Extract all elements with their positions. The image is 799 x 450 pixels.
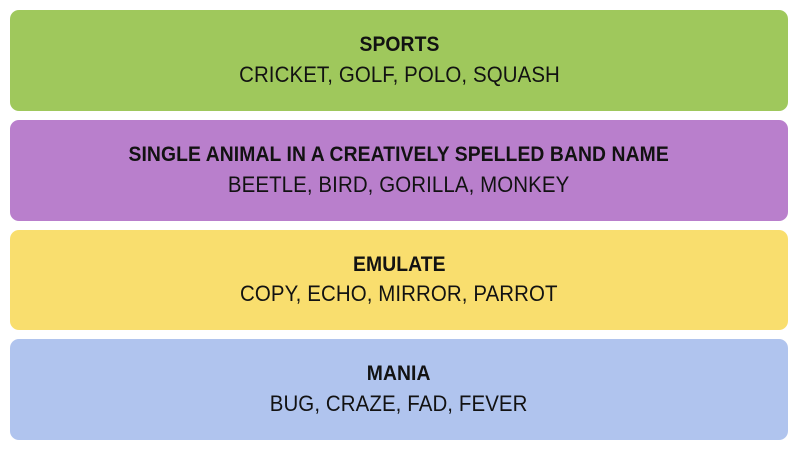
connections-answer-board: SPORTS CRICKET, GOLF, POLO, SQUASH SINGL…	[0, 0, 799, 450]
category-title: SINGLE ANIMAL IN A CREATIVELY SPELLED BA…	[129, 143, 669, 168]
category-title: SPORTS	[359, 33, 439, 58]
category-card-single-animal-in-a-creatively-spelled-band-name[interactable]: SINGLE ANIMAL IN A CREATIVELY SPELLED BA…	[10, 120, 788, 221]
category-title: MANIA	[367, 362, 431, 387]
category-members: COPY, ECHO, MIRROR, PARROT	[240, 281, 558, 307]
category-title: EMULATE	[353, 253, 446, 278]
category-card-sports[interactable]: SPORTS CRICKET, GOLF, POLO, SQUASH	[10, 10, 788, 111]
category-members: BUG, CRAZE, FAD, FEVER	[270, 391, 528, 417]
category-card-emulate[interactable]: EMULATE COPY, ECHO, MIRROR, PARROT	[10, 230, 788, 331]
category-card-mania[interactable]: MANIA BUG, CRAZE, FAD, FEVER	[10, 339, 788, 440]
category-members: BEETLE, BIRD, GORILLA, MONKEY	[228, 172, 570, 198]
category-members: CRICKET, GOLF, POLO, SQUASH	[239, 62, 560, 88]
